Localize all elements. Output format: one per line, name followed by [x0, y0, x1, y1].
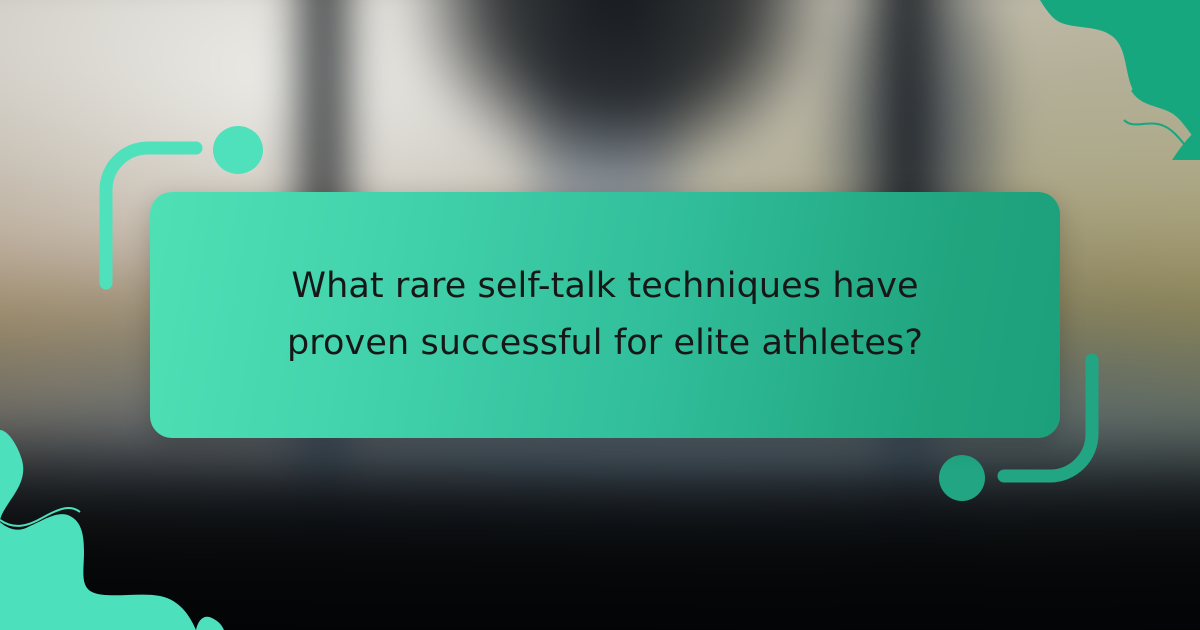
quote-card: What rare self-talk techniques have prov…: [150, 192, 1060, 438]
dot-top-left: [213, 126, 263, 174]
quote-card-canvas: What rare self-talk techniques have prov…: [0, 0, 1200, 630]
blob-top-right: [1000, 0, 1200, 160]
dot-bottom-right: [939, 455, 985, 501]
blob-bottom-left: [0, 430, 232, 630]
quote-text: What rare self-talk techniques have prov…: [225, 258, 985, 371]
